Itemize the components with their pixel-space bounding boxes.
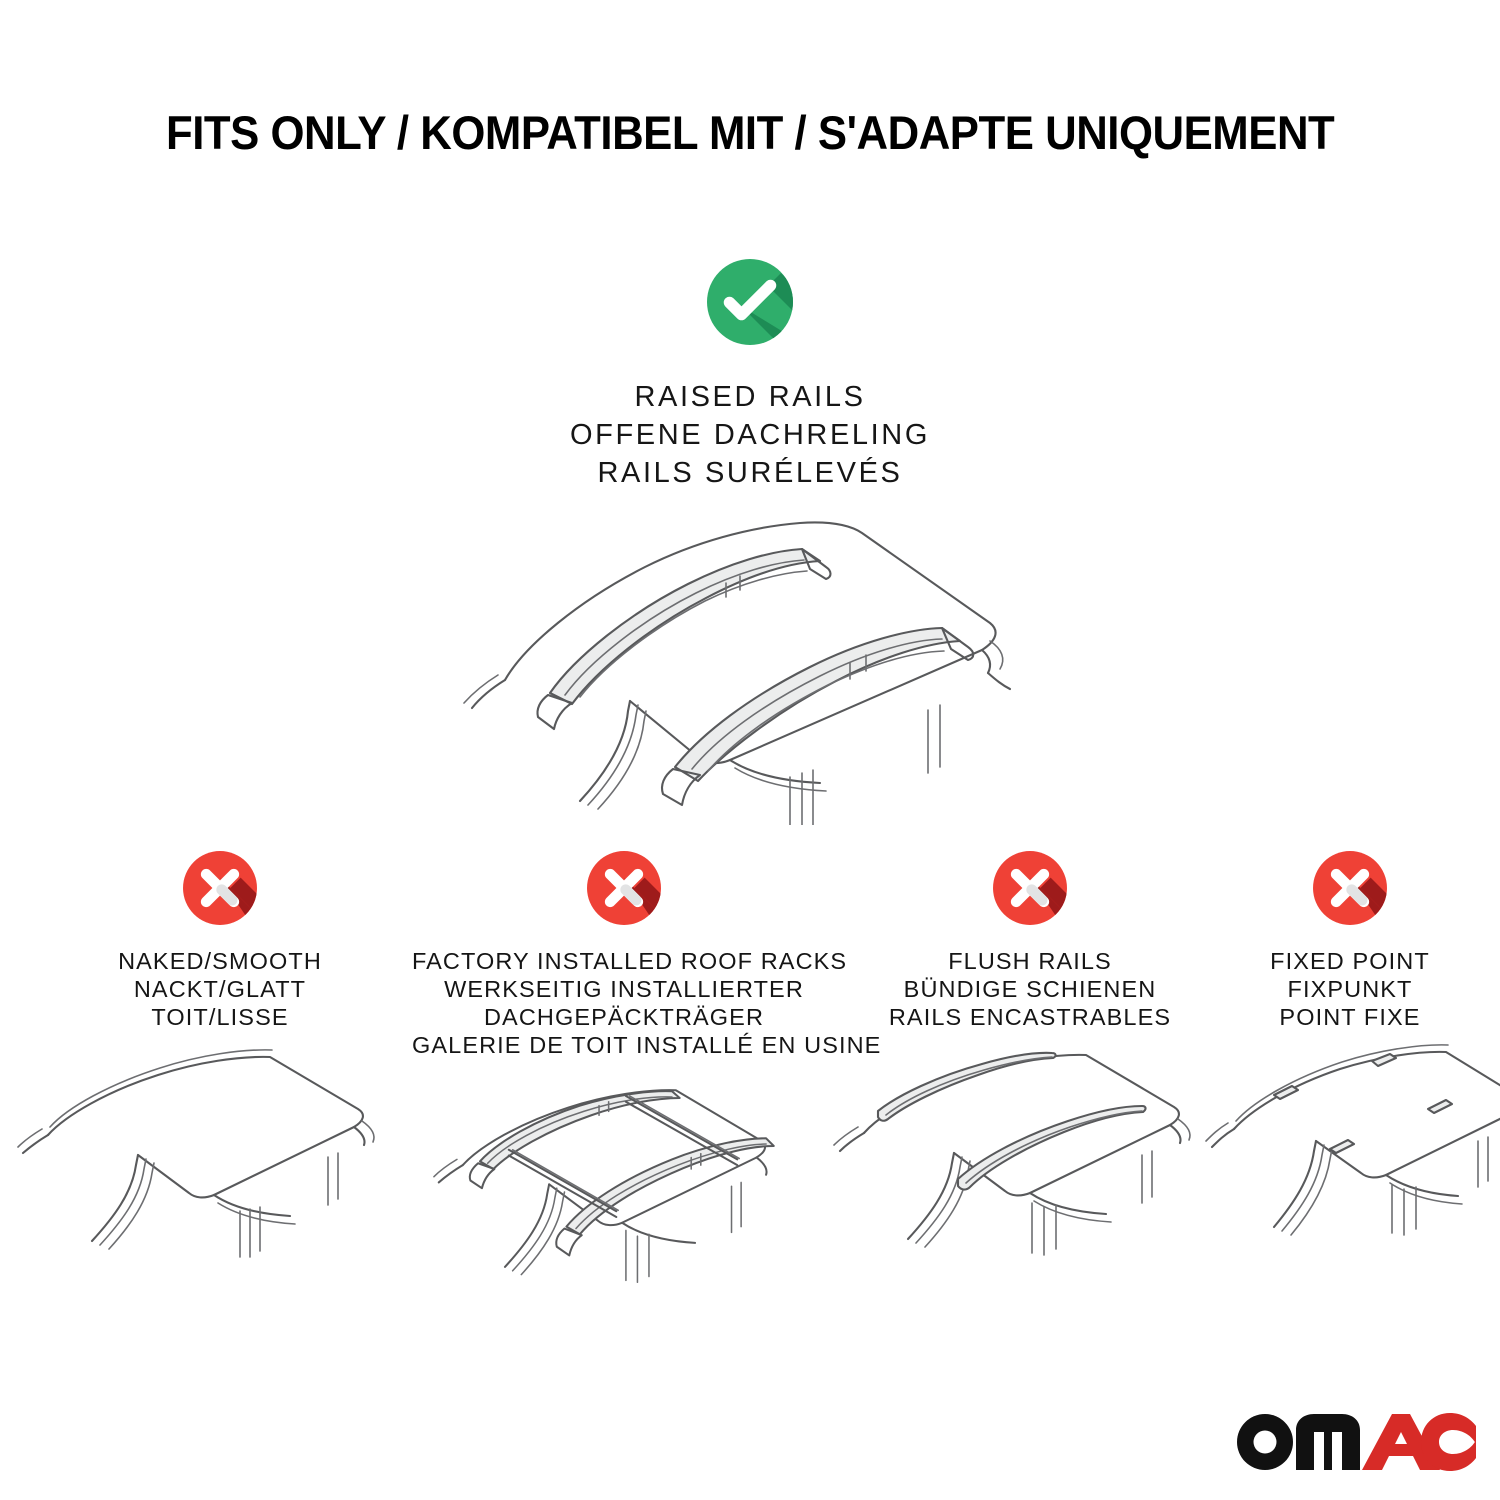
label-line-en: FACTORY INSTALLED ROOF RACKS <box>412 947 836 975</box>
car-roof-fixed-point-illustration <box>1216 1045 1484 1285</box>
page-title: FITS ONLY / KOMPATIBEL MIT / S'ADAPTE UN… <box>166 104 1334 162</box>
incompatible-column-naked-smooth: NAKED/SMOOTH NACKT/GLATT TOIT/LISSE <box>18 845 422 1285</box>
incompatible-column-factory-racks: FACTORY INSTALLED ROOF RACKS WERKSEITIG … <box>412 845 836 1313</box>
label-line-fr: RAILS ENCASTRABLES <box>842 1003 1218 1031</box>
label-line-en: FIXED POINT <box>1216 947 1484 975</box>
incompatible-column-flush-rails: FLUSH RAILS BÜNDIGE SCHIENEN RAILS ENCAS… <box>842 845 1218 1285</box>
incompatible-caption: FIXED POINT FIXPUNKT POINT FIXE <box>1216 947 1484 1031</box>
omac-logo <box>1232 1404 1476 1474</box>
incompatible-caption: FLUSH RAILS BÜNDIGE SCHIENEN RAILS ENCAS… <box>842 947 1218 1031</box>
cross-circle-icon <box>987 845 1073 931</box>
car-roof-naked-illustration <box>18 1045 422 1285</box>
label-line-de: FIXPUNKT <box>1216 975 1484 1003</box>
page-header: FITS ONLY / KOMPATIBEL MIT / S'ADAPTE UN… <box>0 104 1500 162</box>
label-line-fr: POINT FIXE <box>1216 1003 1484 1031</box>
incompatible-sections: NAKED/SMOOTH NACKT/GLATT TOIT/LISSE <box>0 845 1500 1315</box>
label-line-de-1: WERKSEITIG INSTALLIERTER <box>412 975 836 1003</box>
cross-circle-icon <box>177 845 263 931</box>
car-roof-factory-racks-illustration <box>412 1073 836 1313</box>
incompatible-caption: FACTORY INSTALLED ROOF RACKS WERKSEITIG … <box>412 947 836 1059</box>
compatible-section: RAISED RAILS OFFENE DACHRELING RAILS SUR… <box>0 252 1500 492</box>
label-line-fr: TOIT/LISSE <box>18 1003 422 1031</box>
incompatible-caption: NAKED/SMOOTH NACKT/GLATT TOIT/LISSE <box>18 947 422 1031</box>
compatible-caption: RAISED RAILS OFFENE DACHRELING RAILS SUR… <box>0 378 1500 492</box>
label-line-en: FLUSH RAILS <box>842 947 1218 975</box>
car-roof-flush-rails-illustration <box>842 1045 1218 1285</box>
car-roof-raised-rails-illustration <box>430 505 1070 825</box>
label-line-de: BÜNDIGE SCHIENEN <box>842 975 1218 1003</box>
label-line-fr: GALERIE DE TOIT INSTALLÉ EN USINE <box>412 1031 836 1059</box>
label-line-de-2: DACHGEPÄCKTRÄGER <box>412 1003 836 1031</box>
cross-circle-icon <box>1307 845 1393 931</box>
label-line-en: NAKED/SMOOTH <box>18 947 422 975</box>
compatible-label-en: RAISED RAILS <box>0 378 1500 416</box>
infographic-page: FITS ONLY / KOMPATIBEL MIT / S'ADAPTE UN… <box>0 0 1500 1500</box>
compatible-label-fr: RAILS SURÉLEVÉS <box>0 454 1500 492</box>
check-circle-icon <box>700 252 800 352</box>
cross-circle-icon <box>581 845 667 931</box>
compatible-label-de: OFFENE DACHRELING <box>0 416 1500 454</box>
label-line-de: NACKT/GLATT <box>18 975 422 1003</box>
incompatible-column-fixed-point: FIXED POINT FIXPUNKT POINT FIXE <box>1216 845 1484 1285</box>
